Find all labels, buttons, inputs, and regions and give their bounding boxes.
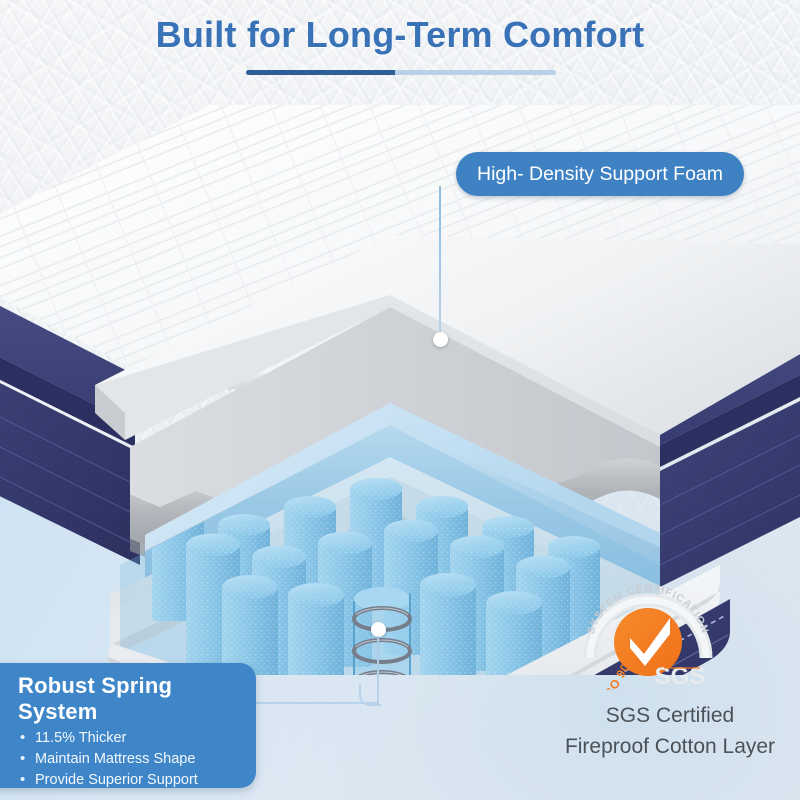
foam-leader-line xyxy=(439,186,441,338)
list-item: Provide Superior Support xyxy=(18,770,240,791)
callout-foam-label: High- Density Support Foam xyxy=(477,163,723,186)
spring-leader-dot xyxy=(371,622,386,637)
list-item: Maintain Mattress Shape xyxy=(18,749,240,770)
list-item: 11.5% Thicker xyxy=(18,728,240,749)
divider-light-segment xyxy=(395,70,556,75)
spring-leader-line-horizontal xyxy=(252,702,379,704)
sgs-wordmark: SGS xyxy=(655,663,706,690)
page-title: Built for Long-Term Comfort xyxy=(0,14,800,56)
divider-dark-segment xyxy=(246,70,395,75)
sgs-certification-badge: SYSTEM CERTIFICATION ISO 9001:2000 SGS xyxy=(578,572,718,690)
title-divider xyxy=(246,70,556,75)
callout-spring-title: Robust Spring System xyxy=(18,673,240,725)
foam-leader-dot xyxy=(433,332,448,347)
callout-high-density-support-foam[interactable]: High- Density Support Foam xyxy=(456,152,744,196)
sgs-caption-line-2: Fireproof Cotton Layer xyxy=(540,731,800,762)
infographic-canvas: Built for Long-Term Comfort xyxy=(0,0,800,800)
sgs-caption-line-1: SGS Certified xyxy=(540,700,800,731)
sgs-caption: SGS Certified Fireproof Cotton Layer xyxy=(540,700,800,762)
callout-spring-bullet-list: 11.5% Thicker Maintain Mattress Shape Pr… xyxy=(18,728,240,791)
callout-robust-spring-system[interactable]: Robust Spring System 11.5% Thicker Maint… xyxy=(0,663,256,788)
